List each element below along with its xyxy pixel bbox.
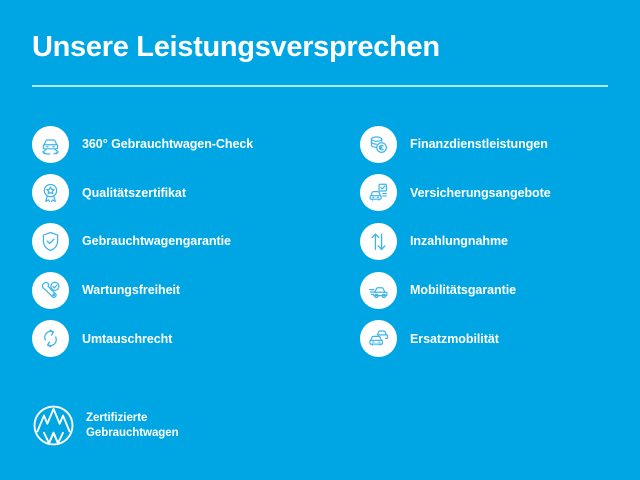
promise-item-finanzdienstleistungen: Finanzdienstleistungen: [360, 120, 630, 169]
promise-label: Wartungsfreiheit: [82, 283, 180, 297]
promise-label: Versicherungsangebote: [410, 186, 551, 200]
promise-item-gebrauchtwagen-check: 360° Gebrauchtwagen-Check: [32, 120, 332, 169]
promise-label: 360° Gebrauchtwagen-Check: [82, 137, 253, 151]
volkswagen-logo: [32, 404, 75, 447]
page-title: Unsere Leistungsversprechen: [32, 31, 440, 64]
promise-label: Inzahlungnahme: [410, 234, 508, 248]
promise-item-mobilitaetsgarantie: Mobilitätsgarantie: [360, 266, 630, 315]
promises-column-right: Finanzdienstleistungen Versicherungsange…: [360, 120, 630, 363]
coins-euro-icon: [360, 126, 397, 163]
two-cars-icon: [360, 320, 397, 357]
promise-item-qualitaetszertifikat: Qualitätszertifikat: [32, 169, 332, 218]
car-360-check-icon: [32, 126, 69, 163]
quality-seal-icon: [32, 174, 69, 211]
car-document-check-icon: [360, 174, 397, 211]
promise-label: Ersatzmobilität: [410, 332, 499, 346]
promise-label: Qualitätszertifikat: [82, 186, 186, 200]
brand-lockup: Zertifizierte Gebrauchtwagen: [32, 404, 179, 447]
promises-banner: Unsere Leistungsversprechen 360° Gebrauc: [0, 0, 640, 480]
promise-item-inzahlungnahme: Inzahlungnahme: [360, 217, 630, 266]
header-divider: [32, 85, 608, 87]
promise-item-wartungsfreiheit: Wartungsfreiheit: [32, 266, 332, 315]
promise-label: Umtauschrecht: [82, 332, 172, 346]
exchange-arrows-icon: [32, 320, 69, 357]
car-motion-icon: [360, 272, 397, 309]
promises-column-left: 360° Gebrauchtwagen-Check Qualitätszerti…: [32, 120, 332, 363]
brand-line-2: Gebrauchtwagen: [86, 426, 179, 441]
promise-item-umtauschrecht: Umtauschrecht: [32, 314, 332, 363]
promise-item-versicherungsangebote: Versicherungsangebote: [360, 169, 630, 218]
brand-line-1: Zertifizierte: [86, 411, 179, 426]
promise-item-ersatzmobilitaet: Ersatzmobilität: [360, 314, 630, 363]
promise-label: Finanzdienstleistungen: [410, 137, 548, 151]
promise-item-gebrauchtwagengarantie: Gebrauchtwagengarantie: [32, 217, 332, 266]
arrows-up-down-icon: [360, 223, 397, 260]
wrench-check-icon: [32, 272, 69, 309]
shield-check-icon: [32, 223, 69, 260]
promise-label: Mobilitätsgarantie: [410, 283, 516, 297]
brand-text: Zertifizierte Gebrauchtwagen: [86, 411, 179, 440]
promise-label: Gebrauchtwagengarantie: [82, 234, 231, 248]
